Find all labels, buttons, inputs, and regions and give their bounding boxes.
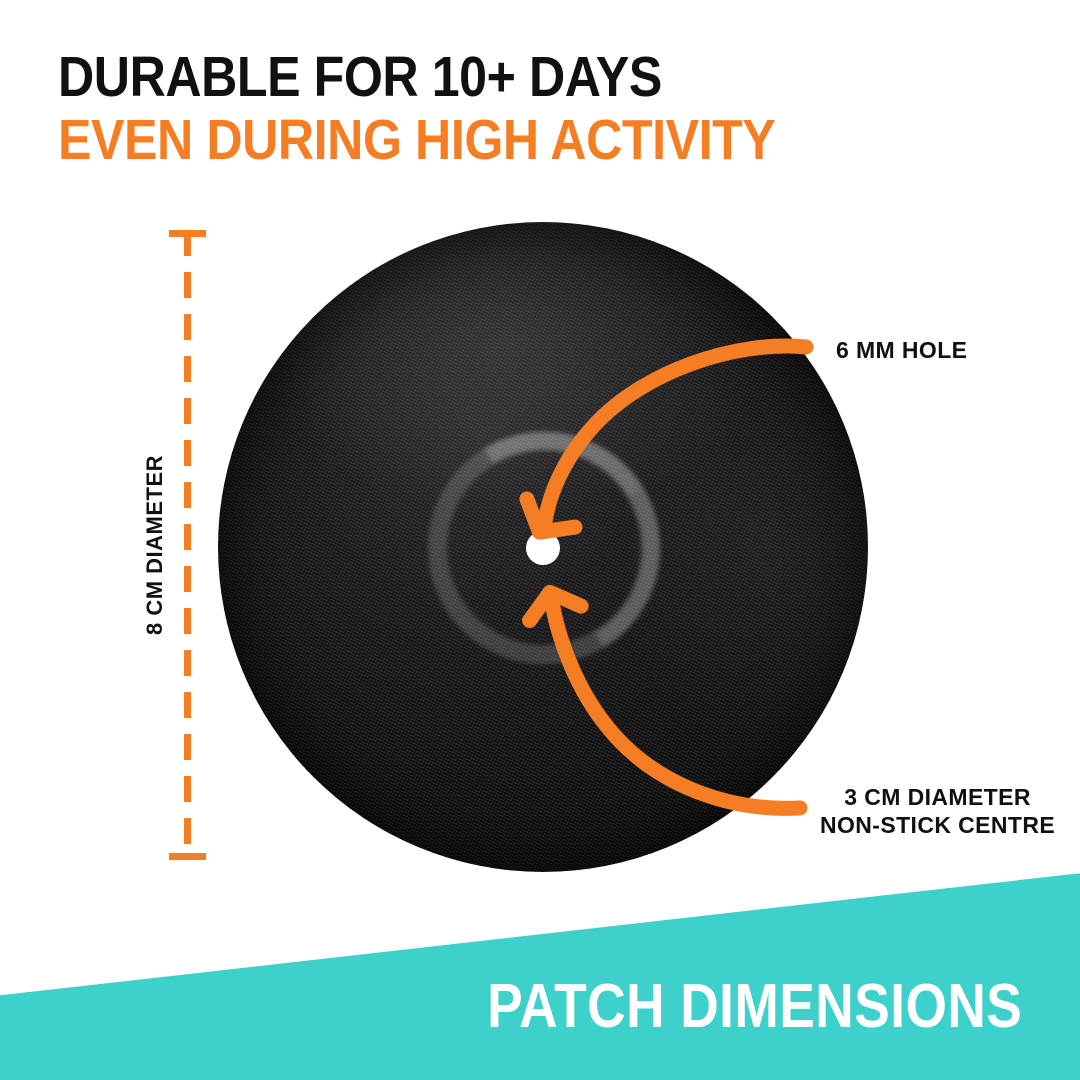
headline-block: Durable for 10+ Days Even during high ac… xyxy=(58,48,918,169)
bottom-banner xyxy=(0,860,1080,1080)
dimension-line-vertical xyxy=(184,230,191,860)
headline-primary: Durable for 10+ Days xyxy=(58,48,815,106)
banner-title: Patch Dimensions xyxy=(487,971,1022,1042)
callout-hole-label: 6 MM HOLE xyxy=(836,336,967,364)
callout-centre-line2: NON-STICK CENTRE xyxy=(820,811,1055,839)
centre-hole xyxy=(526,531,560,565)
dimension-label-diameter: 8 CM DIAMETER xyxy=(142,455,168,635)
callout-centre-line1: 3 CM DIAMETER xyxy=(820,783,1055,811)
callout-centre-label: 3 CM DIAMETER NON-STICK CENTRE xyxy=(820,783,1055,839)
headline-secondary: Even during high activity xyxy=(58,111,815,169)
dimension-cap-bottom xyxy=(169,853,206,860)
infographic-canvas: Durable for 10+ Days Even during high ac… xyxy=(0,0,1080,1080)
callout-hole-text: 6 MM HOLE xyxy=(836,337,967,363)
